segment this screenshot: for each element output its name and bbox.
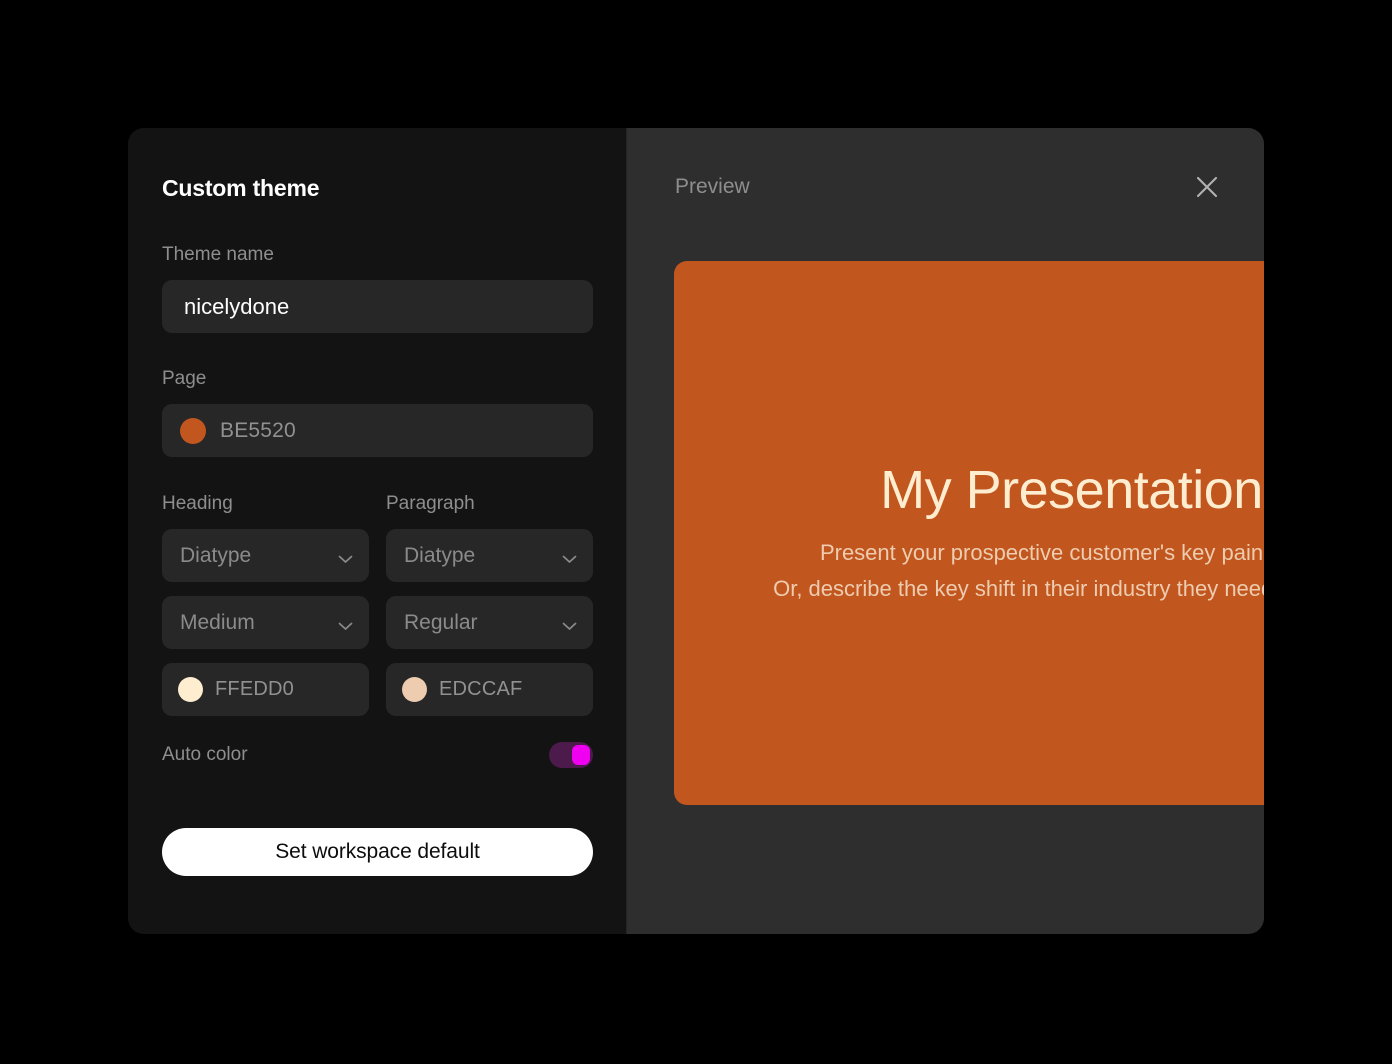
typography-grid: Heading Paragraph Diatype Diatype Medium	[162, 493, 592, 716]
paragraph-color-swatch-icon[interactable]	[402, 677, 427, 702]
heading-font-value: Diatype	[180, 544, 251, 568]
paragraph-color-input[interactable]: EDCCAF	[386, 663, 593, 716]
paragraph-color-hex: EDCCAF	[439, 678, 522, 701]
heading-column-label: Heading	[162, 493, 369, 515]
slide-subtitle-line-2: Or, describe the key shift in their indu…	[773, 571, 1264, 607]
theme-name-value: nicelydone	[184, 294, 289, 320]
page-label: Page	[162, 368, 592, 390]
close-icon[interactable]	[1192, 172, 1222, 202]
heading-weight-value: Medium	[180, 611, 255, 635]
page-color-swatch-icon[interactable]	[180, 418, 206, 444]
paragraph-weight-select[interactable]: Regular	[386, 596, 593, 649]
paragraph-column-label: Paragraph	[386, 493, 593, 515]
custom-theme-modal: Custom theme Theme name nicelydone Page …	[128, 128, 1264, 934]
chevron-down-icon	[338, 618, 353, 627]
heading-color-input[interactable]: FFEDD0	[162, 663, 369, 716]
chevron-down-icon	[562, 618, 577, 627]
slide-subtitle-line-1: Present your prospective customer's key …	[820, 535, 1264, 571]
paragraph-font-select[interactable]: Diatype	[386, 529, 593, 582]
theme-name-input[interactable]: nicelydone	[162, 280, 593, 333]
heading-weight-select[interactable]: Medium	[162, 596, 369, 649]
theme-name-group: Theme name nicelydone	[162, 244, 592, 333]
slide-heading: My Presentation	[880, 459, 1263, 521]
heading-font-select[interactable]: Diatype	[162, 529, 369, 582]
paragraph-weight-value: Regular	[404, 611, 478, 635]
theme-settings-panel: Custom theme Theme name nicelydone Page …	[128, 128, 627, 934]
auto-color-toggle[interactable]	[549, 742, 593, 768]
page-color-hex: BE5520	[220, 419, 296, 443]
chevron-down-icon	[338, 551, 353, 560]
preview-label: Preview	[675, 175, 750, 199]
heading-color-hex: FFEDD0	[215, 678, 294, 701]
screen: Custom theme Theme name nicelydone Page …	[0, 0, 1392, 1064]
heading-color-swatch-icon[interactable]	[178, 677, 203, 702]
slide-preview-card[interactable]: My Presentation Present your prospective…	[674, 261, 1264, 805]
auto-color-label: Auto color	[162, 744, 248, 766]
chevron-down-icon	[562, 551, 577, 560]
set-workspace-default-button[interactable]: Set workspace default	[162, 828, 593, 876]
paragraph-font-value: Diatype	[404, 544, 475, 568]
toggle-knob	[572, 745, 590, 765]
page-color-group: Page BE5520	[162, 368, 592, 457]
preview-panel: Preview My Presentation Present your pro…	[627, 128, 1264, 934]
page-color-input[interactable]: BE5520	[162, 404, 593, 457]
theme-name-label: Theme name	[162, 244, 592, 266]
auto-color-row: Auto color	[162, 742, 593, 768]
page-title: Custom theme	[162, 175, 592, 202]
